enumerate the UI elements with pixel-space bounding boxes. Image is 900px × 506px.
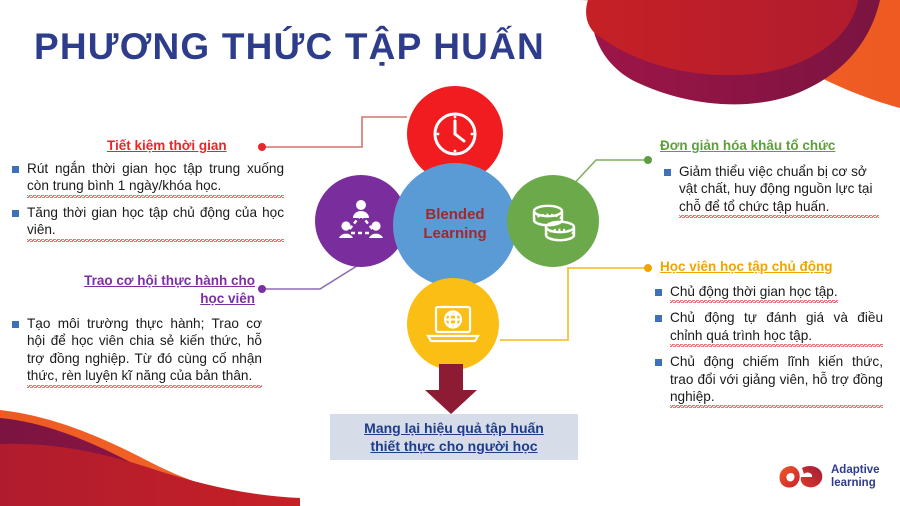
conclusion-line2: thiết thực cho người học	[364, 437, 544, 455]
diagram-node-cost[interactable]	[507, 175, 599, 267]
list-item-text: Chủ động thời gian học tập.	[670, 283, 838, 303]
center-label-line1: Blended	[423, 206, 486, 225]
list-item-text: Chủ động chiếm lĩnh kiến thức, trao đổi …	[670, 353, 883, 408]
branch-list-time-saving: Rút ngắn thời gian học tập trung xuống c…	[12, 160, 284, 248]
bullet-square-icon	[655, 289, 662, 296]
diagram-node-center[interactable]: Blended Learning	[393, 163, 517, 287]
center-label-line2: Learning	[423, 225, 486, 244]
list-item-text: Chủ động tự đánh giá và điều chỉnh quá t…	[670, 309, 883, 347]
connector-dot-gold	[644, 264, 652, 272]
list-item-text: Tăng thời gian học tập chủ động của học …	[27, 204, 284, 242]
coins-stack-icon	[525, 196, 581, 246]
list-item: Tăng thời gian học tập chủ động của học …	[12, 204, 284, 242]
brand-logo-line2: learning	[831, 477, 880, 490]
bullet-square-icon	[655, 359, 662, 366]
adaptive-learning-mark-icon	[778, 462, 824, 492]
bullet-square-icon	[12, 210, 19, 217]
brand-logo: Adaptive learning	[778, 462, 880, 492]
conclusion-line1: Mang lại hiệu quả tập huấn	[364, 419, 544, 437]
branch-list-simplify: Giảm thiểu việc chuẩn bị cơ sở vật chất,…	[664, 163, 879, 224]
connector-dot-red	[258, 143, 266, 151]
conclusion-box: Mang lại hiệu quả tập huấn thiết thực ch…	[330, 414, 578, 460]
branch-heading-simplify: Đơn giản hóa khâu tổ chức	[660, 138, 835, 155]
list-item: Chủ động thời gian học tập.	[655, 283, 883, 303]
conclusion-text: Mang lại hiệu quả tập huấn thiết thực ch…	[364, 419, 544, 455]
bullet-square-icon	[655, 315, 662, 322]
list-item-text: Tạo môi trường thực hành; Trao cơ hội để…	[27, 315, 262, 388]
clock-icon	[429, 108, 481, 160]
brand-logo-text: Adaptive learning	[831, 464, 880, 489]
connector-dot-green	[644, 156, 652, 164]
list-item: Chủ động tự đánh giá và điều chỉnh quá t…	[655, 309, 883, 347]
diagram-node-online[interactable]	[407, 278, 499, 370]
branch-heading-active-learning: Học viên học tập chủ động	[660, 259, 833, 276]
center-label: Blended Learning	[423, 206, 486, 244]
branch-heading-practice-line1: Trao cơ hội thực hành cho	[55, 273, 255, 290]
list-item: Tạo môi trường thực hành; Trao cơ hội để…	[12, 315, 262, 388]
list-item-text: Giảm thiểu việc chuẩn bị cơ sở vật chất,…	[679, 163, 879, 218]
list-item-text: Rút ngắn thời gian học tập trung xuống c…	[27, 160, 284, 198]
laptop-globe-icon	[424, 300, 482, 348]
connector-dot-purple	[258, 285, 266, 293]
bullet-square-icon	[12, 321, 19, 328]
network-people-icon	[333, 195, 389, 247]
bullet-square-icon	[12, 166, 19, 173]
branch-list-practice: Tạo môi trường thực hành; Trao cơ hội để…	[12, 315, 262, 394]
list-item: Rút ngắn thời gian học tập trung xuống c…	[12, 160, 284, 198]
list-item: Chủ động chiếm lĩnh kiến thức, trao đổi …	[655, 353, 883, 408]
branch-heading-time-saving: Tiết kiệm thời gian	[107, 138, 227, 155]
bullet-square-icon	[664, 169, 671, 176]
list-item: Giảm thiểu việc chuẩn bị cơ sở vật chất,…	[664, 163, 879, 218]
branch-heading-practice-line2: học viên	[55, 291, 255, 308]
down-arrow-icon	[423, 364, 479, 414]
branch-list-active-learning: Chủ động thời gian học tập. Chủ động tự …	[655, 283, 883, 414]
brand-logo-line1: Adaptive	[831, 464, 880, 477]
slide-canvas: PHƯƠNG THỨC TẬP HUẤN Tiết kiệm thời gian…	[0, 0, 900, 506]
